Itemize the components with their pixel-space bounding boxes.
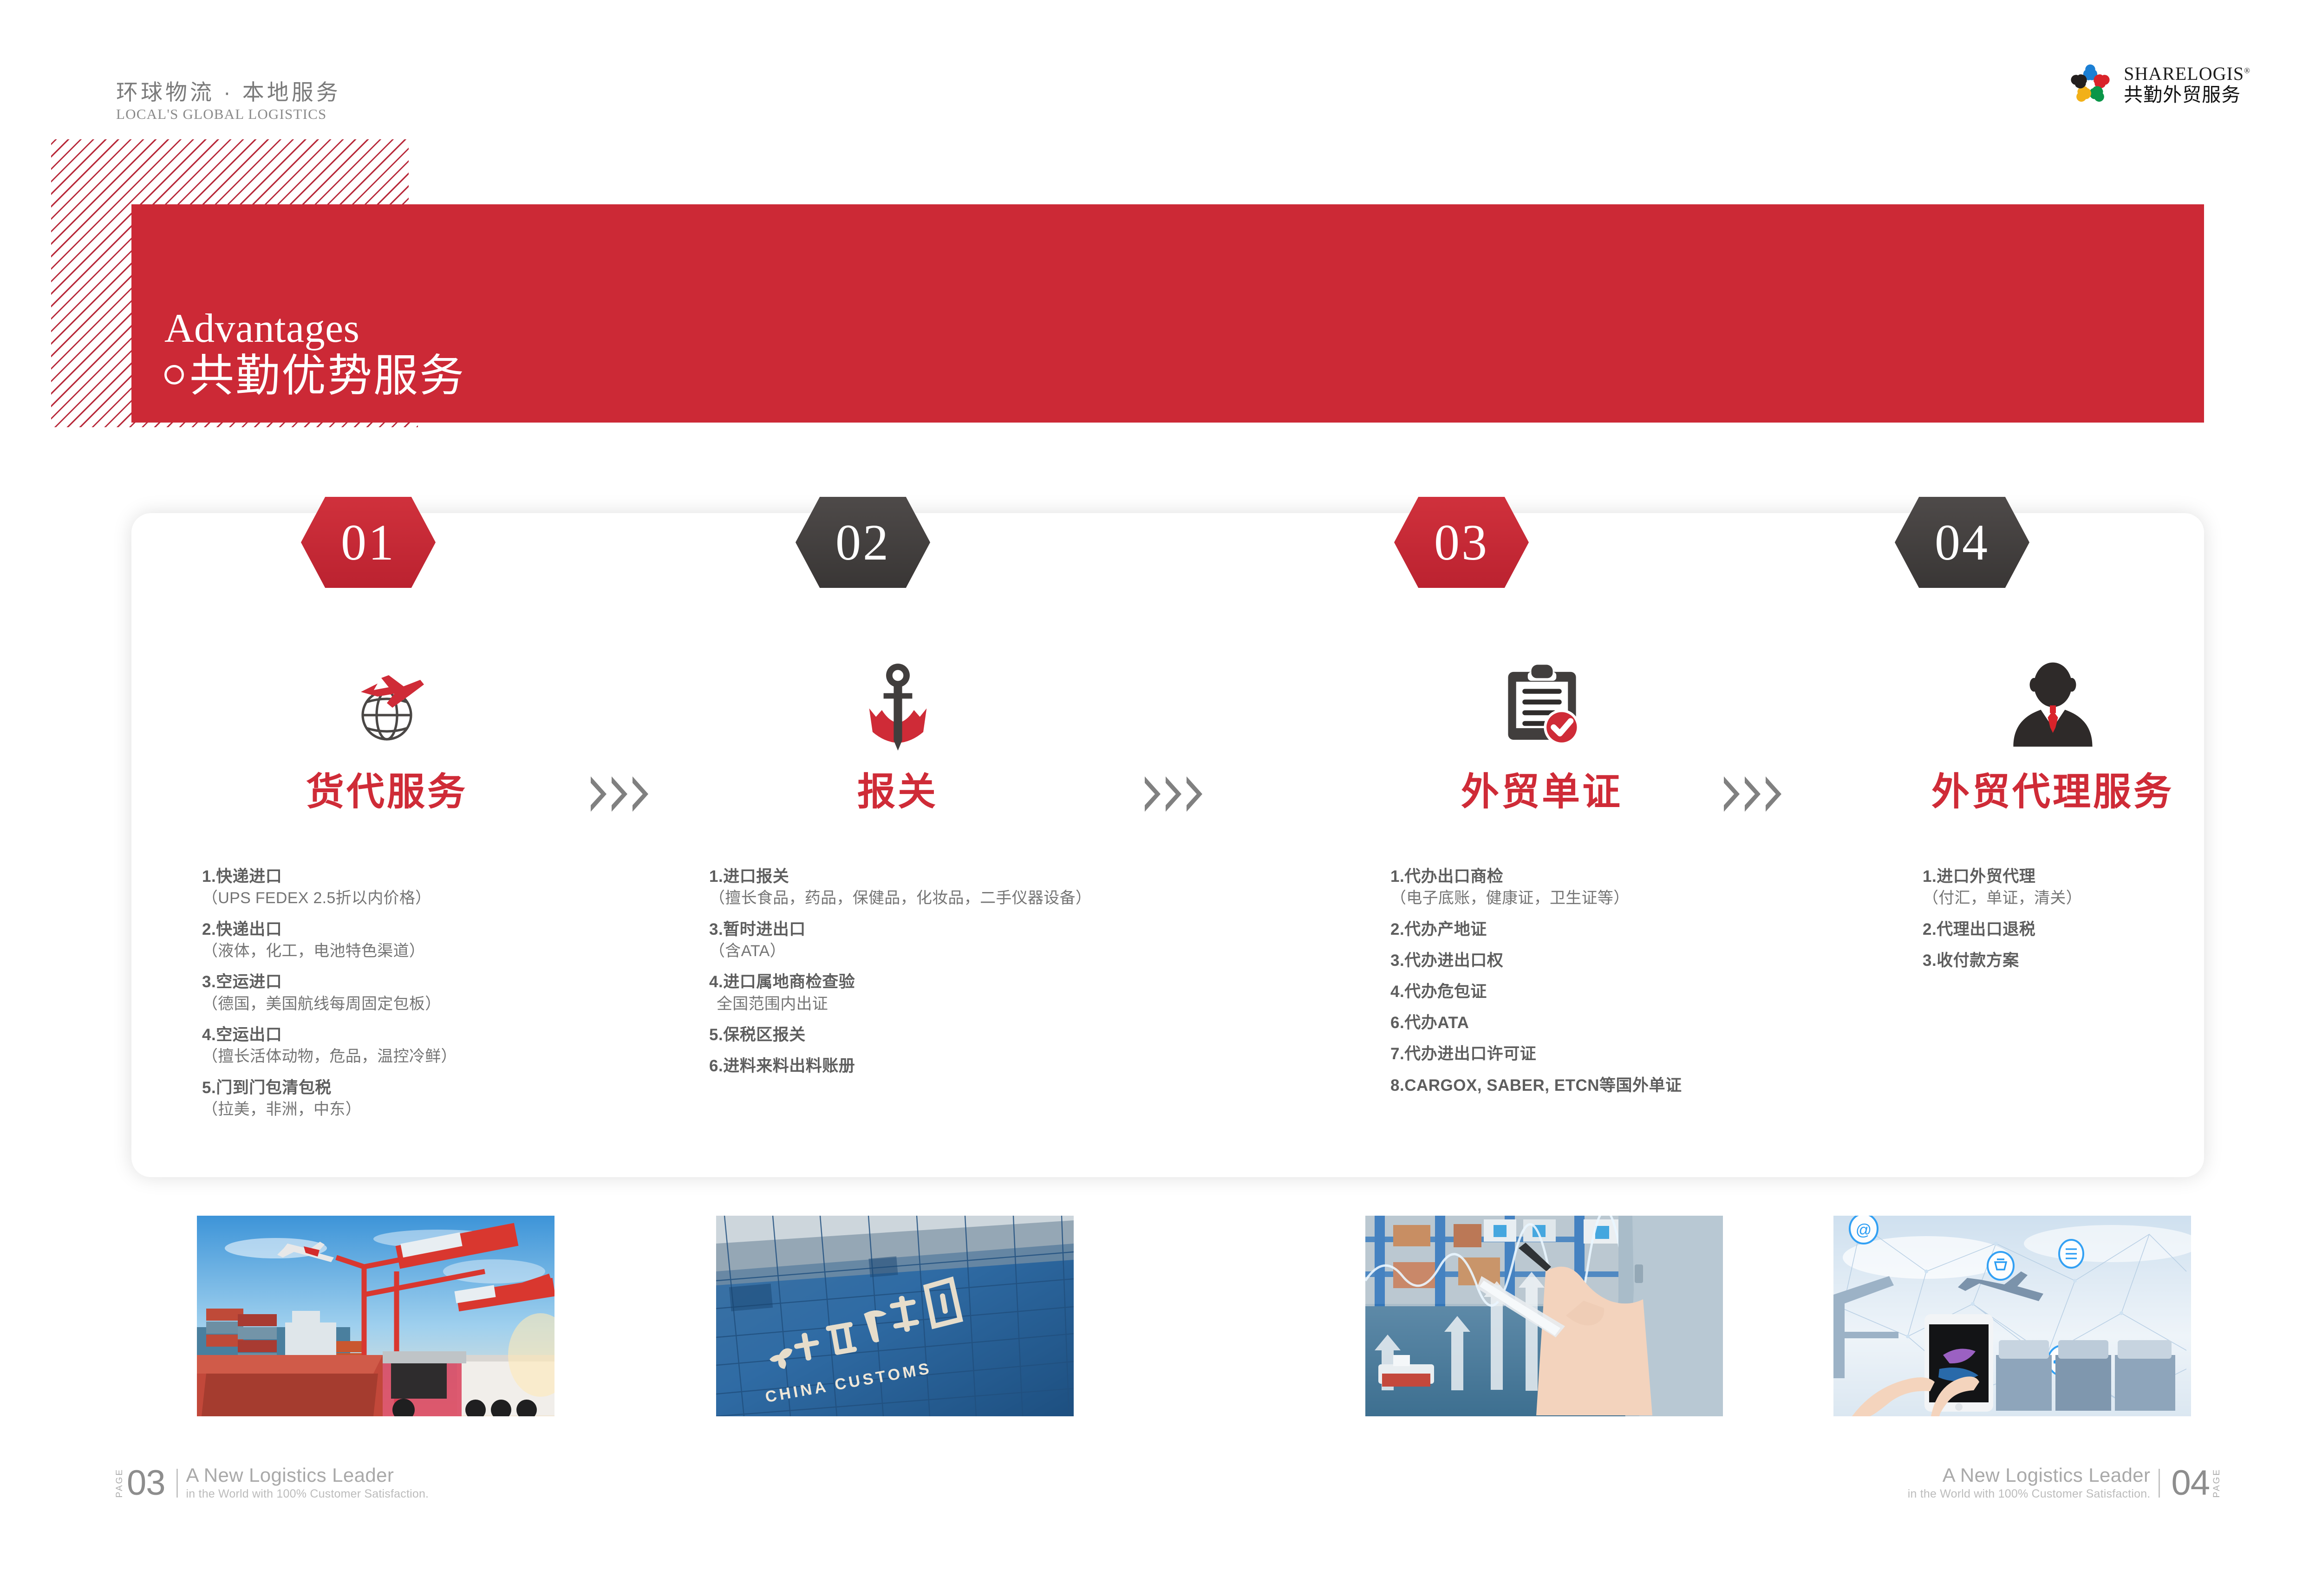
column-1-list: 1.快递进口 （UPS FEDEX 2.5折以内价格） 2.快递出口 （液体，化… [131,866,642,1130]
section-banner: Advantages 共勤优势服务 [131,204,2204,423]
list-item: 1.进口报关 （擅长食品，药品，保健品，化妆品，二手仪器设备） [709,866,1153,909]
chevron-right-icon [1145,776,1161,812]
list-item-title: 7.代办进出口许可证 [1390,1043,1797,1065]
list-item-sub: （电子底账，健康证，卫生证等） [1390,888,1797,909]
chevron-right-icon [633,776,648,812]
page-label-right: PAGE [2212,1468,2221,1498]
connector-chevrons-3 [1724,776,1781,812]
list-item-title: 4.空运出口 [202,1024,642,1046]
list-item-title: 2.代办产地证 [1390,919,1797,940]
chevron-right-icon [1766,776,1781,812]
registered-mark-icon: ® [2244,66,2250,75]
column-3-list: 1.代办出口商检 （电子底账，健康证，卫生证等） 2.代办产地证 3.代办进出口… [1286,866,1797,1106]
icon-slot-4 [1797,650,2308,752]
page-label-left: PAGE [115,1468,124,1498]
chevron-right-icon [591,776,607,812]
step-badge-01-label: 01 [341,517,396,568]
list-item: 6.代办ATA [1390,1012,1797,1034]
list-item: 4.代办危包证 [1390,981,1797,1003]
list-item: 5.保税区报关 [709,1024,1153,1046]
footer-tagline-line2: in the World with 100% Customer Satisfac… [186,1487,429,1501]
list-item-title: 2.快递出口 [202,919,642,940]
connector-chevrons-2 [1145,776,1202,812]
icon-slot-1 [131,650,642,752]
list-item: 3.代办进出口权 [1390,950,1797,971]
list-item-sub: 全国范围内出证 [709,994,1153,1015]
step-badge-04: 04 [1895,497,2029,588]
list-item: 5.门到门包清包税 （拉美，非洲，中东） [202,1077,642,1120]
list-item: 4.空运出口 （擅长活体动物，危品，温控冷鲜） [202,1024,642,1068]
logo-name-cn: 共勤外贸服务 [2124,85,2250,104]
footer-tagline-line1: A New Logistics Leader [1908,1465,2151,1485]
header-brand: 环球物流 · 本地服务 LOCAL'S GLOBAL LOGISTICS [116,81,341,121]
step-badge-01: 01 [301,497,436,588]
circle-bullet-icon [164,365,184,384]
brand-name-cn: 环球物流 · 本地服务 [116,81,341,103]
column-1-heading: 货代服务 [131,773,642,811]
banner-title-en: Advantages [164,307,465,350]
clipboard-check-icon [1497,659,1587,752]
list-item: 4.进口属地商检查验 全国范围内出证 [709,971,1153,1015]
chevron-right-icon [1745,776,1761,812]
list-item-title: 8.CARGOX, SABER, ETCN等国外单证 [1390,1075,1797,1096]
banner-title-cn-row: 共勤优势服务 [164,351,465,402]
step-badge-03: 03 [1394,497,1529,588]
businessman-icon [2010,659,2096,752]
list-item-title: 1.快递进口 [202,866,642,887]
list-item: 7.代办进出口许可证 [1390,1043,1797,1065]
list-item-sub: （擅长食品，药品，保健品，化妆品，二手仪器设备） [709,888,1153,909]
photo-tablet-logistics-network: @ [1833,1216,2191,1416]
list-item: 6.进料来料出料账册 [709,1055,1153,1077]
list-item-title: 4.进口属地商检查验 [709,971,1153,993]
list-item-title: 6.代办ATA [1390,1012,1797,1034]
list-item: 2.代办产地证 [1390,919,1797,940]
page-number-right: 04 [2171,1466,2210,1501]
list-item-sub: （拉美，非洲，中东） [202,1099,642,1120]
logo-name-en-text: SHARELOGIS [2124,63,2244,84]
list-item: 3.暂时进出口 （含ATA） [709,919,1153,962]
list-item-sub: （UPS FEDEX 2.5折以内价格） [202,888,642,909]
step-badge-02-label: 02 [835,517,890,568]
list-item-title: 5.门到门包清包税 [202,1077,642,1099]
icon-slot-2 [642,650,1153,752]
footer-right: A New Logistics Leader in the World with… [1908,1465,2221,1501]
anchor-icon [855,659,941,752]
footer-tagline-line1: A New Logistics Leader [186,1465,429,1485]
logo-name-en: SHARELOGIS® [2124,65,2250,83]
footer-tagline-right: A New Logistics Leader in the World with… [1908,1465,2151,1501]
footer-divider [2159,1469,2160,1498]
list-item: 2.代理出口退税 [1923,919,2308,940]
list-item-title: 6.进料来料出料账册 [709,1055,1153,1077]
sharelogis-people-circle-icon [2065,59,2115,110]
list-item-title: 5.保税区报关 [709,1024,1153,1046]
page-number-left: 03 [127,1466,165,1501]
column-2-heading: 报关 [642,773,1153,811]
list-item-sub: （擅长活体动物，危品，温控冷鲜） [202,1046,642,1068]
footer-left: PAGE 03 A New Logistics Leader in the Wo… [115,1465,429,1501]
chevron-right-icon [1187,776,1202,812]
column-4-heading: 外贸代理服务 [1797,773,2308,811]
chevron-right-icon [1724,776,1740,812]
chevron-right-icon [612,776,627,812]
list-item-title: 1.进口报关 [709,866,1153,887]
company-logo: SHARELOGIS® 共勤外贸服务 [2065,59,2250,110]
list-item: 1.代办出口商检 （电子底账，健康证，卫生证等） [1390,866,1797,909]
column-3-heading: 外贸单证 [1286,773,1797,811]
brand-name-en: LOCAL'S GLOBAL LOGISTICS [116,107,341,121]
icon-slot-3 [1286,650,1797,752]
list-item-title: 2.代理出口退税 [1923,919,2308,940]
footer-tagline-line2: in the World with 100% Customer Satisfac… [1908,1487,2151,1501]
list-item-title: 3.收付款方案 [1923,950,2308,971]
footer-divider [176,1469,178,1498]
photo-china-customs-building: CHINA CUSTOMS [716,1216,1074,1416]
list-item: 1.进口外贸代理 （付汇，单证，清关） [1923,866,2308,909]
connector-chevrons-1 [591,776,648,812]
column-4-list: 1.进口外贸代理 （付汇，单证，清关） 2.代理出口退税 3.收付款方案 [1797,866,2308,981]
list-item-sub: （德国，美国航线每周固定包板） [202,994,642,1015]
list-item: 3.收付款方案 [1923,950,2308,971]
list-item-sub: （付汇，单证，清关） [1923,888,2308,909]
list-item-title: 4.代办危包证 [1390,981,1797,1003]
photo-port-container-terminal [197,1216,554,1416]
list-item: 8.CARGOX, SABER, ETCN等国外单证 [1390,1075,1797,1096]
list-item: 2.快递出口 （液体，化工，电池特色渠道） [202,919,642,962]
photo-inspector-clipboard-analytics [1365,1216,1723,1416]
step-badge-04-label: 04 [1935,517,1989,568]
list-item-sub: （含ATA） [709,941,1153,962]
list-item-title: 3.空运进口 [202,971,642,993]
list-item: 3.空运进口 （德国，美国航线每周固定包板） [202,971,642,1015]
list-item-sub: （液体，化工，电池特色渠道） [202,941,642,962]
footer-tagline-left: A New Logistics Leader in the World with… [186,1465,429,1501]
list-item: 1.快递进口 （UPS FEDEX 2.5折以内价格） [202,866,642,909]
list-item-title: 1.进口外贸代理 [1923,866,2308,887]
banner-title-cn: 共勤优势服务 [189,351,465,402]
step-badge-02: 02 [796,497,930,588]
svg-text:@: @ [1856,1221,1872,1239]
list-item-title: 1.代办出口商检 [1390,866,1797,887]
list-item-title: 3.代办进出口权 [1390,950,1797,971]
chevron-right-icon [1166,776,1181,812]
list-item-title: 3.暂时进出口 [709,919,1153,940]
globe-airplane-icon [340,659,433,752]
step-badge-03-label: 03 [1434,517,1489,568]
column-2-list: 1.进口报关 （擅长食品，药品，保健品，化妆品，二手仪器设备） 3.暂时进出口 … [642,866,1153,1087]
banner-text-block: Advantages 共勤优势服务 [164,307,465,402]
